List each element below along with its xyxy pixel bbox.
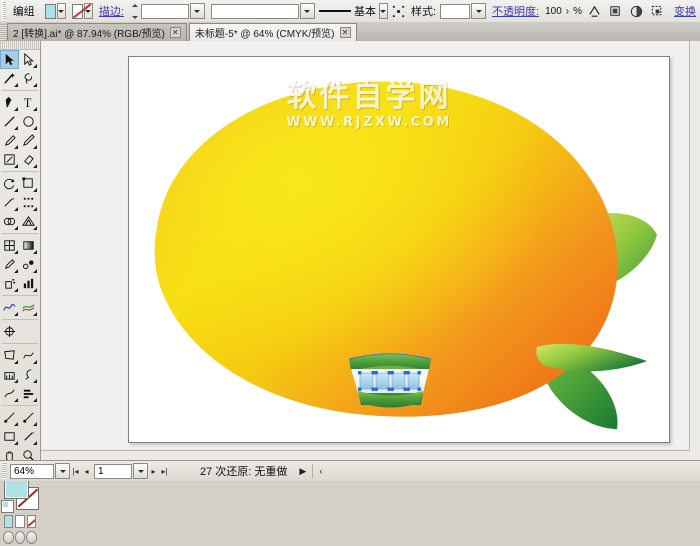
width-tool[interactable] xyxy=(0,193,19,212)
color-mode-gradient[interactable] xyxy=(15,515,24,528)
ellipse-tool[interactable] xyxy=(19,112,38,131)
canvas-area[interactable]: 软件自学网 WWW.RJZXW.COM xyxy=(41,41,690,461)
bar-graph-tool[interactable] xyxy=(19,384,38,403)
transform-link[interactable]: 变换 xyxy=(674,3,696,19)
default-colors-icon[interactable] xyxy=(1,500,14,513)
pencil-tool[interactable] xyxy=(19,131,38,150)
status-menu-arrow-icon[interactable]: ▶ xyxy=(299,466,306,477)
line-segment-tool[interactable] xyxy=(0,112,19,131)
brush-definition-preview[interactable] xyxy=(319,4,351,19)
blend-tool[interactable] xyxy=(19,255,38,274)
first-page-icon[interactable]: |◂ xyxy=(70,464,81,478)
status-bar: 64% |◂ ◂ 1 ▸ ▸| 27 次还原: 无重做 ▶ ‹ xyxy=(0,460,700,481)
gradient-mesh-swatch-tool[interactable] xyxy=(0,365,19,384)
pen-tool[interactable] xyxy=(0,93,19,112)
control-bar: 编组 描边: 基本 样式: 不透明度: 10 xyxy=(0,0,700,23)
stroke-weight-dropdown-arrow[interactable] xyxy=(190,3,205,19)
gondola xyxy=(349,354,431,408)
column-graph-tool[interactable] xyxy=(19,274,38,293)
clipping-mask-icon[interactable] xyxy=(608,4,623,19)
free-distort-tool[interactable] xyxy=(0,346,19,365)
blob-brush-tool[interactable] xyxy=(0,150,19,169)
liquify-tool[interactable] xyxy=(19,298,38,317)
eraser-tool[interactable] xyxy=(19,150,38,169)
perspective-grid-tool[interactable] xyxy=(19,212,38,231)
paintbrush-tool[interactable] xyxy=(0,131,19,150)
symbol-sprayer-tool[interactable] xyxy=(0,274,19,293)
previous-page-icon[interactable]: ◂ xyxy=(81,464,92,478)
selection-tool[interactable] xyxy=(0,50,19,69)
stroke-profile-input[interactable] xyxy=(211,4,299,19)
align-icon[interactable] xyxy=(391,4,406,19)
color-mode-none[interactable] xyxy=(27,515,36,528)
opacity-value[interactable]: 100 xyxy=(545,6,562,17)
status-divider xyxy=(312,464,313,478)
vertical-scrollbar[interactable] xyxy=(689,41,700,461)
document-tab-1[interactable]: 2 [转换].ai* @ 87.94% (RGB/预览) ✕ xyxy=(7,23,187,41)
type-tool[interactable]: T xyxy=(19,93,38,112)
magic-wand-tool[interactable] xyxy=(0,69,19,88)
symbol-scruncher-tool[interactable] xyxy=(19,365,38,384)
style-dropdown-arrow[interactable] xyxy=(471,3,486,19)
normal-screen-mode-icon[interactable] xyxy=(3,531,14,544)
status-collapse-icon[interactable]: ‹ xyxy=(319,466,322,476)
page-dropdown-arrow[interactable] xyxy=(133,463,148,479)
opacity-unit: % xyxy=(573,6,582,17)
blimp-illustration[interactable] xyxy=(129,57,669,442)
rotate-tool[interactable] xyxy=(0,174,19,193)
stroke-weight-input[interactable] xyxy=(141,4,189,19)
style-input[interactable] xyxy=(440,4,470,19)
artboard-tool[interactable] xyxy=(0,427,19,446)
free-transform-tool[interactable] xyxy=(19,193,38,212)
zoom-dropdown-arrow[interactable] xyxy=(55,463,70,479)
artboard[interactable]: 软件自学网 WWW.RJZXW.COM xyxy=(128,56,670,443)
opacity-dropdown-arrow[interactable]: › xyxy=(566,6,569,17)
full-screen-menu-mode-icon[interactable] xyxy=(15,531,26,544)
tab-bar-grip[interactable] xyxy=(0,24,6,41)
status-bar-grip[interactable] xyxy=(2,463,7,479)
close-icon[interactable]: ✕ xyxy=(340,27,351,38)
brush-definition-label: 基本 xyxy=(354,3,376,19)
measure-tool[interactable] xyxy=(19,408,38,427)
stroke-profile-dropdown-arrow[interactable] xyxy=(300,3,315,19)
full-screen-mode-icon[interactable] xyxy=(26,531,37,544)
brush-definition-dropdown-arrow[interactable] xyxy=(379,3,388,19)
stroke-color-swatch[interactable] xyxy=(72,4,83,19)
style-label: 样式: xyxy=(411,3,436,19)
direct-selection-tool[interactable] xyxy=(19,50,38,69)
control-bar-grip[interactable] xyxy=(2,2,6,20)
scale-tool[interactable] xyxy=(19,174,38,193)
color-mode-row xyxy=(0,514,40,529)
slice-tool[interactable] xyxy=(19,427,38,446)
tool-panel: T xyxy=(0,41,41,461)
wave-path-tool[interactable] xyxy=(19,346,38,365)
document-tab-2[interactable]: 未标题-5* @ 64% (CMYK/预览) ✕ xyxy=(189,23,357,41)
illustrator-window: 编组 描边: 基本 样式: 不透明度: 10 xyxy=(0,0,700,481)
opacity-label[interactable]: 不透明度: xyxy=(492,3,539,19)
shape-builder-tool[interactable] xyxy=(0,212,19,231)
mesh-tool[interactable] xyxy=(0,236,19,255)
document-tab-1-label: 2 [转换].ai* @ 87.94% (RGB/预览) xyxy=(13,25,165,40)
last-page-icon[interactable]: ▸| xyxy=(159,464,170,478)
stroke-weight-stepper[interactable] xyxy=(132,4,138,19)
zoom-level-input[interactable]: 64% xyxy=(10,464,54,479)
document-tab-2-label: 未标题-5* @ 64% (CMYK/预览) xyxy=(195,25,335,40)
stroke-weight-label[interactable]: 描边: xyxy=(99,3,124,19)
page-number-input[interactable]: 1 xyxy=(94,464,132,479)
gradient-tool[interactable] xyxy=(19,236,38,255)
close-icon[interactable]: ✕ xyxy=(170,27,181,38)
fill-dropdown-arrow[interactable] xyxy=(57,3,66,19)
crosshair-tool[interactable] xyxy=(0,322,19,341)
eyedropper-measure-tool[interactable] xyxy=(0,408,19,427)
lasso-tool[interactable] xyxy=(19,69,38,88)
document-tab-bar: 2 [转换].ai* @ 87.94% (RGB/预览) ✕ 未标题-5* @ … xyxy=(0,22,700,42)
color-mode-color[interactable] xyxy=(4,515,13,528)
screen-mode-row xyxy=(0,529,40,546)
next-page-icon[interactable]: ▸ xyxy=(148,464,159,478)
arrange-icon[interactable] xyxy=(650,4,665,19)
selected-object-label: 编组 xyxy=(13,3,35,19)
svg-text:T: T xyxy=(24,96,32,110)
tail-fin-side xyxy=(536,344,647,372)
warp-tool[interactable] xyxy=(0,298,19,317)
eyedropper-tool[interactable] xyxy=(0,255,19,274)
isolate-icon[interactable] xyxy=(587,4,602,19)
undo-status-text: 27 次还原: 无重做 xyxy=(200,463,287,479)
scatter-graph-tool[interactable] xyxy=(0,384,19,403)
tool-panel-grip[interactable] xyxy=(0,41,40,50)
toolbox-spacer xyxy=(19,322,38,341)
fill-color-swatch[interactable] xyxy=(45,4,56,19)
recolor-icon[interactable] xyxy=(629,4,644,19)
